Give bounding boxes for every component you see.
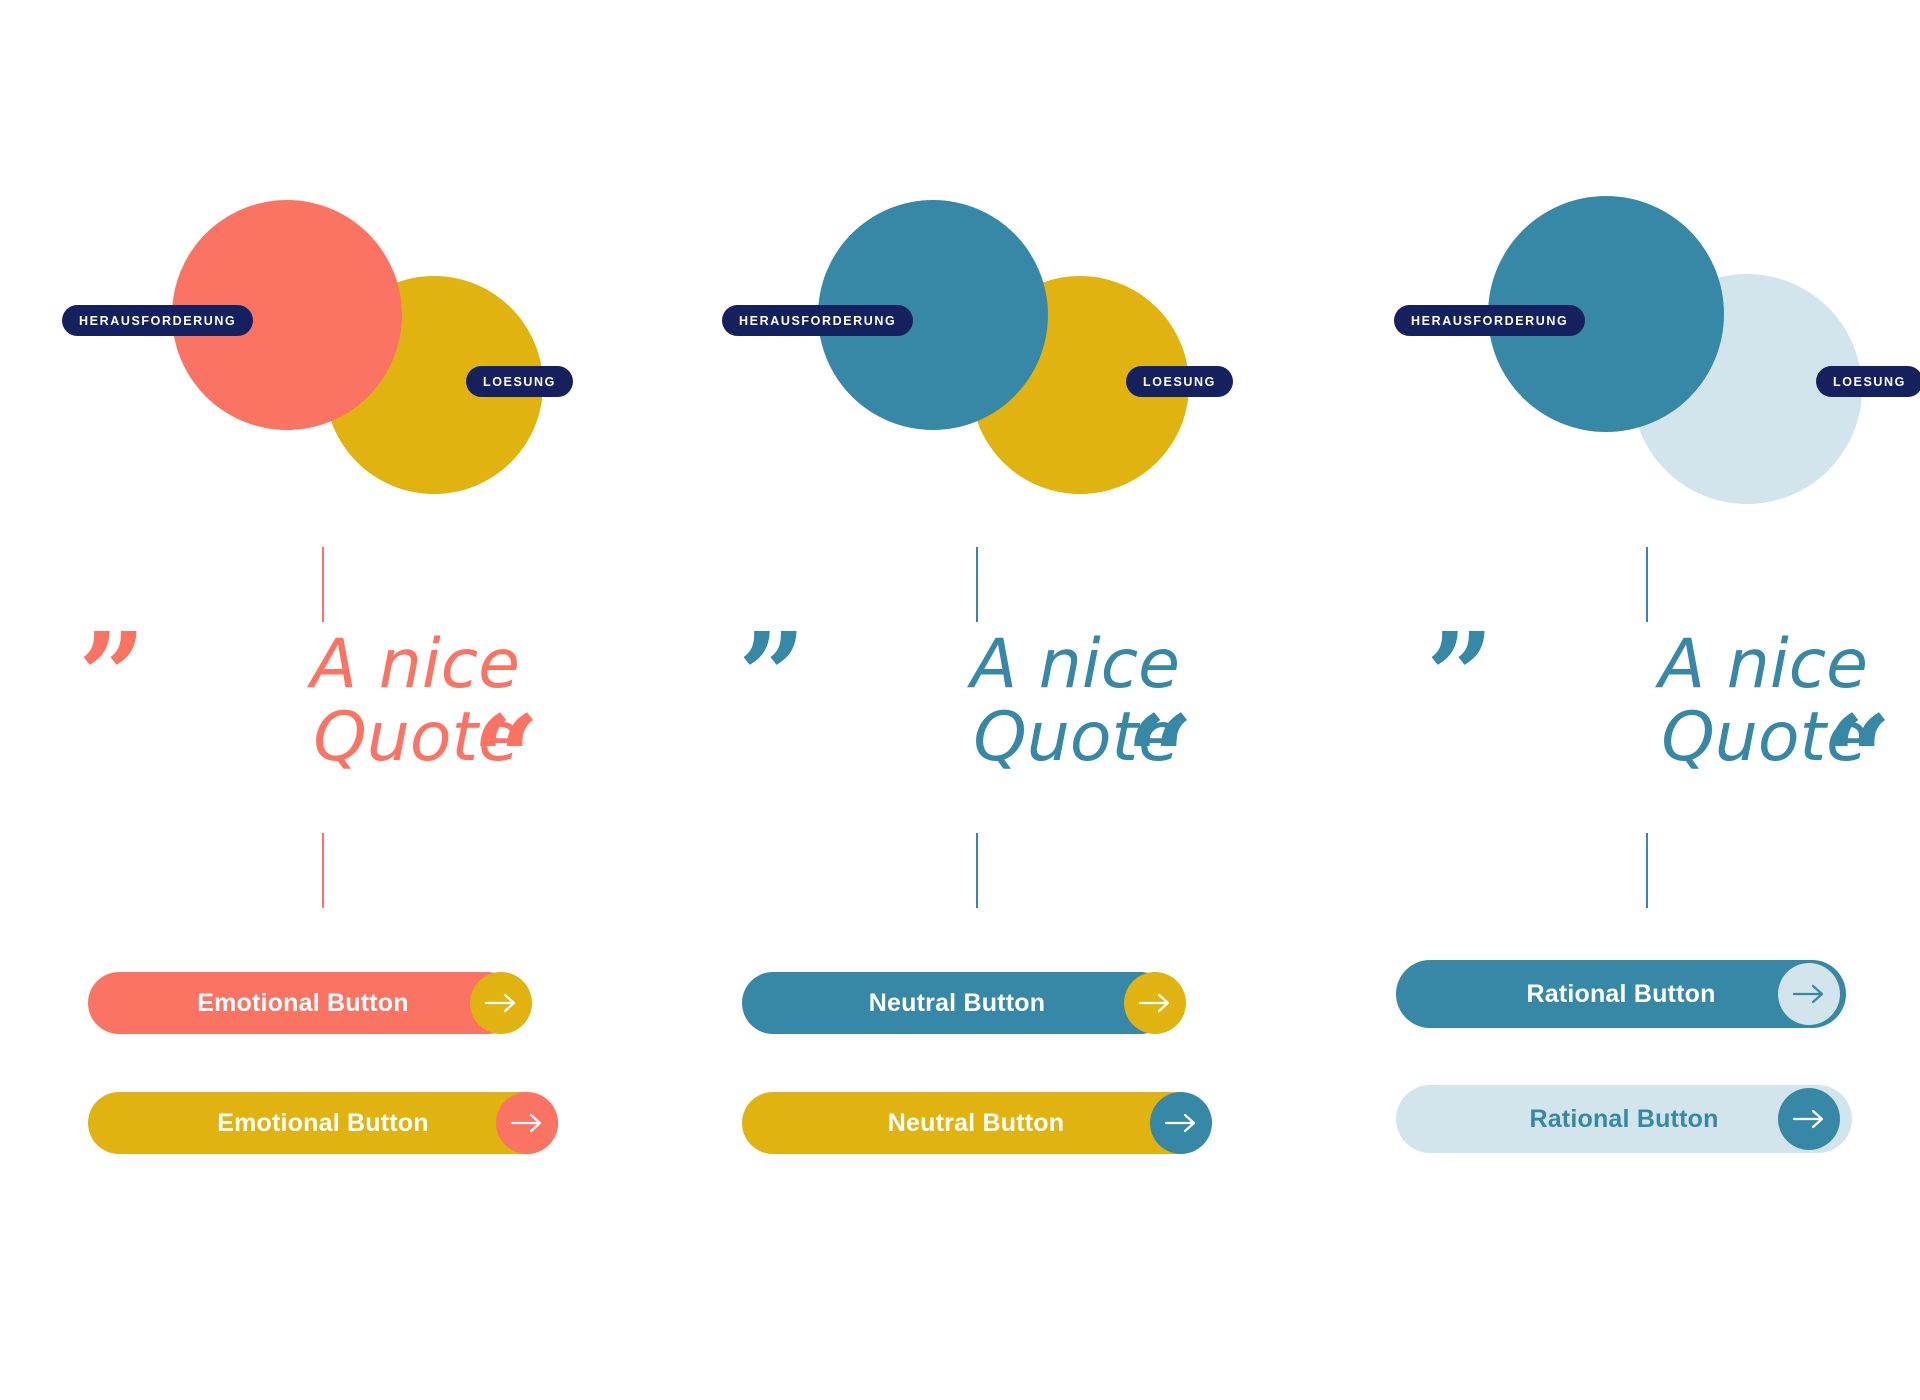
connector-line-top	[976, 547, 978, 622]
solution-pill-label: LOESUNG	[1816, 366, 1920, 397]
circle-cluster	[1302, 190, 1920, 520]
challenge-pill-label: HERAUSFORDERUNG	[722, 305, 913, 336]
secondary-cta-label: Rational Button	[1529, 1105, 1718, 1134]
primary-cta-button[interactable]: Emotional Button	[88, 972, 518, 1034]
quote-close-mark: “	[1824, 700, 1886, 818]
connector-line-bottom	[976, 833, 978, 908]
connector-line-bottom	[322, 833, 324, 908]
secondary-cta-arrow-icon[interactable]	[496, 1092, 558, 1154]
variant-column-rational: HERAUSFORDERUNG LOESUNG ” A niceQuote “ …	[1316, 0, 1920, 1400]
primary-cta-label: Emotional Button	[197, 989, 409, 1018]
secondary-cta-button[interactable]: Emotional Button	[88, 1092, 558, 1154]
quote-close-mark: “	[472, 700, 534, 818]
quote-text: A niceQuote	[1538, 628, 1868, 775]
solution-pill-label: LOESUNG	[1126, 366, 1233, 397]
variant-column-emotional: HERAUSFORDERUNG LOESUNG ” A niceQuote “ …	[0, 0, 640, 1400]
primary-cta-arrow-icon[interactable]	[1124, 972, 1186, 1034]
secondary-cta-button[interactable]: Neutral Button	[742, 1092, 1210, 1154]
circle-cluster	[0, 190, 640, 520]
quote-close-mark: “	[1126, 700, 1188, 818]
connector-line-top	[1646, 547, 1648, 622]
circle-cluster	[646, 190, 1286, 520]
solution-pill-label: LOESUNG	[466, 366, 573, 397]
primary-cta-arrow-icon[interactable]	[1778, 963, 1840, 1025]
quote-open-mark: ”	[738, 617, 800, 735]
primary-cta-label: Neutral Button	[869, 989, 1045, 1018]
quote-open-mark: ”	[1426, 617, 1488, 735]
primary-cta-button[interactable]: Neutral Button	[742, 972, 1172, 1034]
secondary-cta-arrow-icon[interactable]	[1778, 1088, 1840, 1150]
variant-column-neutral: HERAUSFORDERUNG LOESUNG ” A niceQuote “ …	[658, 0, 1298, 1400]
primary-cta-label: Rational Button	[1526, 980, 1715, 1009]
challenge-pill-label: HERAUSFORDERUNG	[62, 305, 253, 336]
secondary-cta-arrow-icon[interactable]	[1150, 1092, 1212, 1154]
connector-line-top	[322, 547, 324, 622]
challenge-pill-label: HERAUSFORDERUNG	[1394, 305, 1585, 336]
secondary-cta-label: Emotional Button	[217, 1109, 429, 1138]
secondary-cta-label: Neutral Button	[888, 1109, 1064, 1138]
primary-cta-arrow-icon[interactable]	[470, 972, 532, 1034]
connector-line-bottom	[1646, 833, 1648, 908]
quote-open-mark: ”	[78, 617, 140, 735]
quote-text: A niceQuote	[190, 628, 520, 775]
style-guide-board: HERAUSFORDERUNG LOESUNG ” A niceQuote “ …	[0, 0, 1920, 1400]
